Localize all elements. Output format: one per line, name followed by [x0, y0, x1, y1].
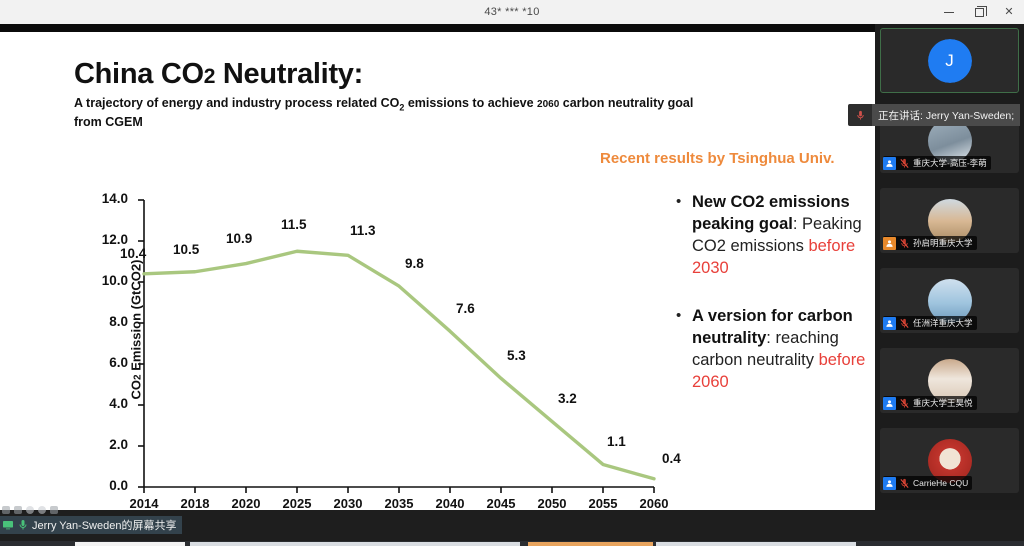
share-toolbar-icon-2	[14, 506, 22, 514]
window-title: 43* *** *10	[484, 6, 539, 18]
taskbar-item-label: Jerry Yan-Sweden的屏幕共享	[32, 517, 176, 533]
bullet-0-colon: :	[793, 215, 798, 233]
participant-tile[interactable]: J	[880, 28, 1019, 93]
subtitle-part-a: A trajectory of energy and industry proc…	[74, 96, 399, 110]
screen-share-icon	[2, 519, 14, 531]
muted-microphone-icon	[899, 478, 910, 489]
y-tick-label: 8.0	[84, 314, 128, 329]
x-tick-label: 2040	[427, 496, 473, 511]
page-title: China CO2 Neutrality:	[74, 58, 363, 91]
page-title-main: China CO	[74, 58, 204, 90]
participant-name-bar: CarrieHe CQU	[883, 476, 972, 490]
restore-icon	[975, 8, 984, 17]
x-tick-label: 2060	[631, 496, 677, 511]
microphone-icon	[17, 519, 29, 531]
y-tick-label: 0.0	[84, 478, 128, 493]
participant-name: 重庆大学-高压-李萌	[913, 157, 987, 169]
subtitle-year: 2060	[537, 99, 559, 110]
participant-avatar-badge-icon	[883, 397, 896, 410]
close-button[interactable]: ✕	[994, 0, 1024, 24]
data-point-label: 10.9	[226, 231, 252, 246]
muted-microphone-icon	[899, 238, 910, 249]
restore-button[interactable]	[964, 0, 994, 24]
x-tick-label: 2035	[376, 496, 422, 511]
shared-screen-top-band	[0, 24, 875, 32]
participant-tile[interactable]: 任洲洋重庆大学	[880, 268, 1019, 333]
emissions-line-chart: CO2 Emission (GtCO2) 0.02.04.06.08.010.0…	[74, 182, 674, 512]
subtitle-part-c: carbon neutrality goal	[559, 96, 693, 110]
muted-microphone-icon	[899, 398, 910, 409]
data-point-label: 0.4	[662, 451, 681, 466]
x-tick-label: 2030	[325, 496, 371, 511]
x-tick-label: 2050	[529, 496, 575, 511]
x-tick-label: 2018	[172, 496, 218, 511]
microphone-icon[interactable]	[848, 104, 872, 126]
share-mini-toolbar[interactable]	[2, 506, 58, 514]
page-title-subscript: 2	[204, 65, 215, 88]
mic-glyph	[855, 109, 866, 122]
taskbar-item-screen-share[interactable]: Jerry Yan-Sweden的屏幕共享	[0, 516, 182, 534]
shared-slide: China CO2 Neutrality: A trajectory of en…	[0, 32, 875, 510]
y-label-pre: CO	[128, 380, 143, 400]
bullet-item-1: A version for carbon neutrality: reachin…	[676, 306, 866, 394]
y-tick-label: 14.0	[84, 191, 128, 206]
subtitle-part-b: emissions to achieve	[404, 96, 537, 110]
data-point-label: 1.1	[607, 434, 626, 449]
y-label-post: Emission (GtCO2)	[128, 260, 143, 375]
data-point-label: 3.2	[558, 391, 577, 406]
muted-microphone-icon	[899, 158, 910, 169]
muted-microphone-icon	[899, 318, 910, 329]
share-toolbar-icon-4	[38, 506, 46, 514]
strip-seg-3	[528, 542, 653, 546]
participant-avatar-badge-icon	[883, 157, 896, 170]
share-toolbar-icon-5	[50, 506, 58, 514]
avatar: J	[928, 39, 972, 83]
page-title-tail: Neutrality:	[215, 58, 363, 90]
data-point-label: 11.5	[281, 217, 307, 232]
x-tick-label: 2025	[274, 496, 320, 511]
share-toolbar-icon-1	[2, 506, 10, 514]
y-tick-label: 6.0	[84, 355, 128, 370]
bottom-strip	[0, 541, 1024, 546]
participant-name: CarrieHe CQU	[913, 478, 968, 488]
participant-avatar-badge-icon	[883, 477, 896, 490]
x-tick-label: 2020	[223, 496, 269, 511]
minimize-button[interactable]	[934, 0, 964, 24]
speaking-tooltip: 正在讲话: Jerry Yan-Sweden;	[848, 104, 1020, 126]
chart-y-axis-label: CO2 Emission (GtCO2)	[128, 260, 143, 400]
participant-name-bar: 重庆大学-高压-李萌	[883, 156, 991, 170]
slide-subtitle: A trajectory of energy and industry proc…	[74, 95, 814, 131]
y-tick-label: 2.0	[84, 437, 128, 452]
x-tick-label: 2014	[121, 496, 167, 511]
strip-seg-4	[656, 542, 856, 546]
participant-tile[interactable]: 重庆大学王昊悦	[880, 348, 1019, 413]
data-point-label: 10.4	[120, 246, 146, 261]
participant-avatar-badge-icon	[883, 317, 896, 330]
speaking-tooltip-text: 正在讲话: Jerry Yan-Sweden;	[872, 104, 1020, 126]
x-tick-label: 2055	[580, 496, 626, 511]
window-controls: ✕	[934, 0, 1024, 24]
minimize-icon	[944, 12, 954, 13]
taskbar: Jerry Yan-Sweden的屏幕共享	[0, 510, 1024, 546]
y-label-sub: 2	[132, 374, 143, 380]
avatar-initial: J	[928, 39, 972, 83]
data-point-label: 11.3	[350, 223, 376, 238]
screen-root: 43* *** *10 ✕ China CO2 Neutrality: A tr…	[0, 0, 1024, 546]
recent-results-note: Recent results by Tsinghua Univ.	[600, 150, 835, 167]
participant-tile[interactable]: CarrieHe CQU	[880, 428, 1019, 493]
participant-name-bar: 任洲洋重庆大学	[883, 316, 977, 330]
subtitle-part-d: from CGEM	[74, 115, 143, 129]
window-titlebar: 43* *** *10 ✕	[0, 0, 1024, 24]
participant-tile[interactable]: 孙启明重庆大学	[880, 188, 1019, 253]
data-point-label: 5.3	[507, 348, 526, 363]
participant-avatar-badge-icon	[883, 237, 896, 250]
data-point-label: 7.6	[456, 301, 475, 316]
participant-name: 任洲洋重庆大学	[913, 317, 973, 329]
participant-name-bar: 孙启明重庆大学	[883, 236, 977, 250]
data-point-label: 10.5	[173, 242, 199, 257]
y-tick-label: 10.0	[84, 273, 128, 288]
participants-sidebar[interactable]: J重庆大学-高压-李萌孙启明重庆大学任洲洋重庆大学重庆大学王昊悦CarrieHe…	[875, 24, 1024, 522]
participant-name: 重庆大学王昊悦	[913, 397, 973, 409]
participant-name: 孙启明重庆大学	[913, 237, 973, 249]
slide-bullets: New CO2 emissions peaking goal: Peaking …	[676, 192, 866, 420]
close-icon: ✕	[1004, 7, 1013, 18]
strip-seg-2	[190, 542, 520, 546]
bullet-item-0: New CO2 emissions peaking goal: Peaking …	[676, 192, 866, 280]
participant-name-bar: 重庆大学王昊悦	[883, 396, 977, 410]
y-tick-label: 12.0	[84, 232, 128, 247]
share-toolbar-icon-3	[26, 506, 34, 514]
data-point-label: 9.8	[405, 256, 424, 271]
strip-seg-1	[75, 542, 185, 546]
y-tick-label: 4.0	[84, 396, 128, 411]
x-tick-label: 2045	[478, 496, 524, 511]
bullet-1-colon: :	[766, 329, 771, 347]
